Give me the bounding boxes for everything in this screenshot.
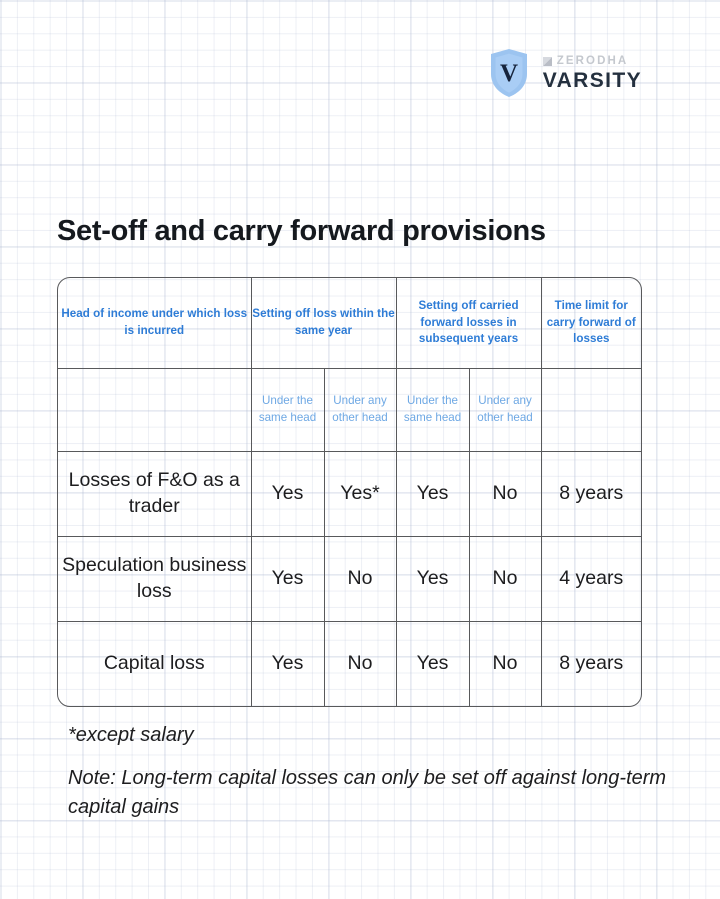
note-long-term-capital-losses: Note: Long-term capital losses can only … (68, 764, 668, 822)
header-blank-left (58, 368, 251, 451)
cell-fno-same-year-same-head: Yes (251, 451, 324, 536)
zerodha-wordmark: ZERODHA (557, 55, 629, 67)
subheader-carried-same-head: Under the same head (396, 368, 469, 451)
footnote-except-salary: *except salary (68, 721, 194, 750)
header-time-limit: Time limit for carry forward of losses (541, 278, 641, 368)
cell-capital-time-limit: 8 years (541, 621, 641, 706)
brand-text-block: ZERODHA VARSITY (543, 53, 642, 93)
provisions-table-container: Head of income under which loss is incur… (57, 277, 642, 707)
cell-fno-carried-same-head: Yes (396, 451, 469, 536)
row-label-capital-loss: Capital loss (58, 621, 251, 706)
zerodha-kite-mark-icon (543, 57, 552, 66)
cell-capital-same-year-same-head: Yes (251, 621, 324, 706)
zerodha-shield-icon: V (488, 48, 530, 98)
cell-speculation-carried-other-head: No (469, 536, 541, 621)
subheader-same-year-other-head: Under any other head (324, 368, 396, 451)
zerodha-row: ZERODHA (543, 55, 629, 67)
svg-text:V: V (500, 60, 518, 87)
header-blank-right (541, 368, 641, 451)
infographic-page: V ZERODHA VARSITY Set-off and carry forw… (0, 0, 720, 899)
page-title: Set-off and carry forward provisions (57, 215, 546, 248)
cell-capital-same-year-other-head: No (324, 621, 396, 706)
header-head-of-income: Head of income under which loss is incur… (58, 278, 251, 368)
varsity-wordmark: VARSITY (543, 69, 642, 93)
row-label-fno: Losses of F&O as a trader (58, 451, 251, 536)
brand-lockup: V ZERODHA VARSITY (488, 48, 642, 98)
table-row: Speculation business loss Yes No Yes No … (58, 536, 641, 621)
subheader-carried-other-head: Under any other head (469, 368, 541, 451)
table-header-row-secondary: Under the same head Under any other head… (58, 368, 641, 451)
table-row: Losses of F&O as a trader Yes Yes* Yes N… (58, 451, 641, 536)
cell-fno-carried-other-head: No (469, 451, 541, 536)
table-header-row-primary: Head of income under which loss is incur… (58, 278, 641, 368)
table-row: Capital loss Yes No Yes No 8 years (58, 621, 641, 706)
cell-speculation-time-limit: 4 years (541, 536, 641, 621)
header-setting-off-same-year: Setting off loss within the same year (251, 278, 396, 368)
cell-speculation-carried-same-head: Yes (396, 536, 469, 621)
row-label-speculation: Speculation business loss (58, 536, 251, 621)
cell-speculation-same-year-same-head: Yes (251, 536, 324, 621)
header-setting-off-carried-forward: Setting off carried forward losses in su… (396, 278, 541, 368)
cell-capital-carried-other-head: No (469, 621, 541, 706)
provisions-table: Head of income under which loss is incur… (58, 278, 641, 706)
cell-fno-time-limit: 8 years (541, 451, 641, 536)
cell-fno-same-year-other-head: Yes* (324, 451, 396, 536)
subheader-same-year-same-head: Under the same head (251, 368, 324, 451)
cell-capital-carried-same-head: Yes (396, 621, 469, 706)
cell-speculation-same-year-other-head: No (324, 536, 396, 621)
